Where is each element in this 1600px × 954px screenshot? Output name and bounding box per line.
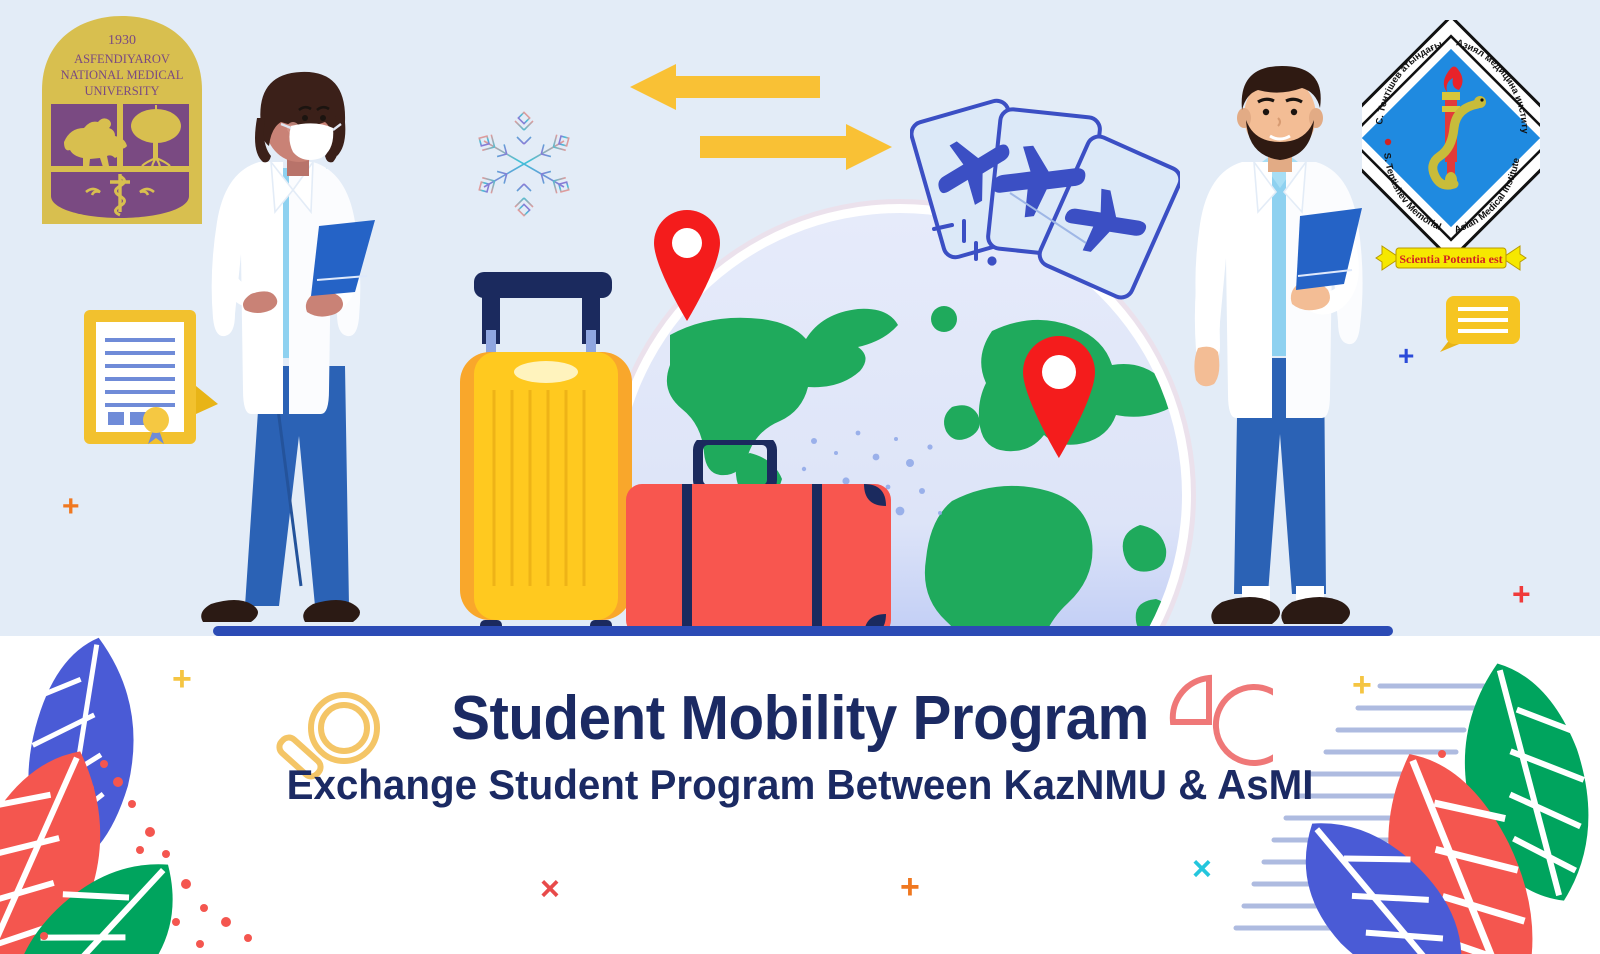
crest-line3: UNIVERSITY <box>85 84 160 98</box>
boarding-passes <box>910 95 1180 320</box>
crest-line2: NATIONAL MEDICAL <box>61 68 184 82</box>
page-subtitle: Exchange Student Program Between KazNMU … <box>32 763 1568 807</box>
crest-line1: ASFENDIYAROV <box>74 52 170 66</box>
arrow-right-icon <box>700 122 892 172</box>
x-mark-cyan: × <box>1192 852 1212 886</box>
map-pin-right <box>1020 330 1098 460</box>
crest-year: 1930 <box>108 33 136 48</box>
asmi-logo: С. Тентішев атындағы Азиял медицина инст… <box>1362 20 1540 275</box>
chat-bubble <box>1428 292 1523 362</box>
plus-mark-far-right: + <box>1512 578 1531 610</box>
map-pin-left <box>652 205 722 323</box>
asmi-ribbon: Scientia Potentia est <box>1376 246 1526 270</box>
arrow-left-icon <box>630 62 820 112</box>
kaznmu-crest: 1930 ASFENDIYAROV NATIONAL MEDICAL UNIVE… <box>34 12 210 224</box>
page-title: Student Mobility Program <box>48 686 1552 751</box>
poster: 1930 ASFENDIYAROV NATIONAL MEDICAL UNIVE… <box>0 0 1600 954</box>
male-doctor <box>1180 62 1380 636</box>
red-suitcase <box>626 440 891 636</box>
plus-mark-orange: + <box>900 870 920 904</box>
ground-bar <box>213 626 1393 636</box>
headline-block: Student Mobility Program Exchange Studen… <box>0 686 1600 807</box>
plus-mark-left: + <box>62 492 80 522</box>
snowflake-icon <box>468 108 580 220</box>
plus-mark-right-small: + <box>1398 342 1414 370</box>
female-doctor <box>195 66 410 636</box>
yellow-rolling-suitcase <box>456 268 636 636</box>
asmi-motto: Scientia Potentia est <box>1399 252 1502 266</box>
scene-illustration: 1930 ASFENDIYAROV NATIONAL MEDICAL UNIVE… <box>0 0 1600 636</box>
x-mark-red: × <box>540 872 560 906</box>
